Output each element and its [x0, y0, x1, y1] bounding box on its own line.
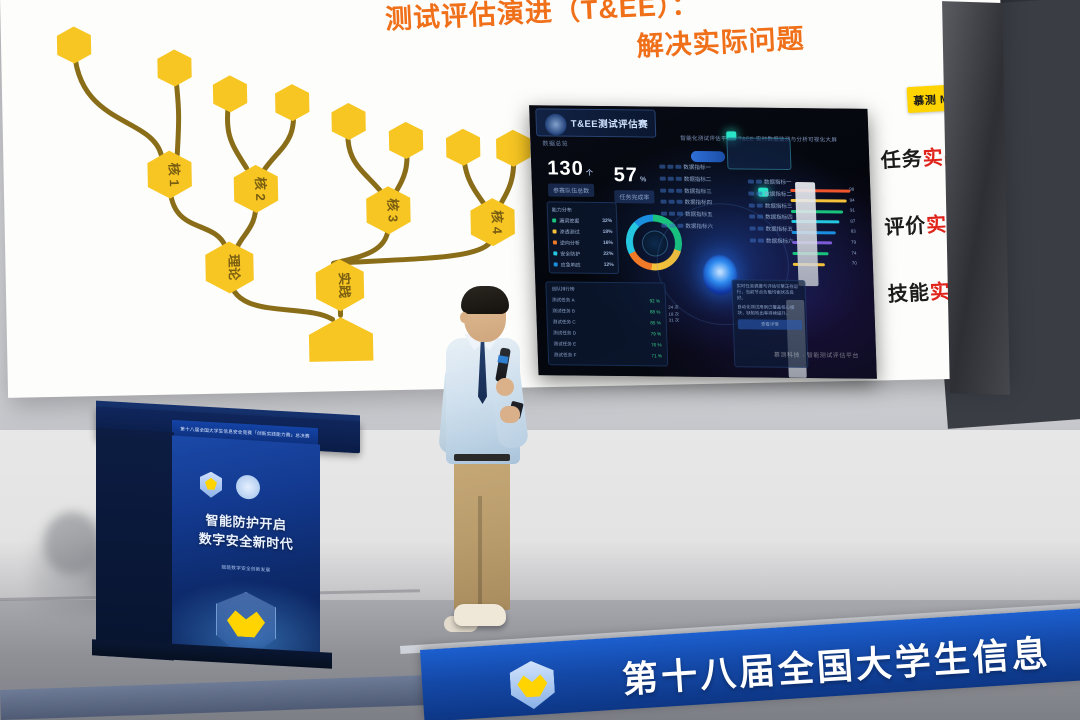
speaker-hand-clicker [500, 406, 520, 423]
side-panel-p1: 实时任务调度与评估引擎正在运行，当前节点负载均衡状态良好。 [736, 283, 801, 301]
speaker [438, 286, 548, 658]
microphone-band [497, 355, 508, 364]
hex-label-k1: 核 1 [166, 162, 181, 186]
podium-front-panel: 智能防护开启 数字安全新时代 赋能数字安全创新发展 [172, 435, 320, 662]
kpi-2-unit: % [640, 176, 646, 183]
legend-row-5: 应急响应12% [554, 261, 614, 269]
dashboard-header-sub: 数据总览 [542, 138, 568, 147]
screen-right-bezel [942, 1, 1010, 395]
hex-label-praxis: 实践 [337, 272, 353, 298]
dashboard-watermark: 慕测科技 · 智能测试评估平台 [774, 350, 859, 360]
side-panel-p2: 自动化测试用例已覆盖核心模块，缺陷检出率持续提升。 [737, 304, 801, 317]
legend-row-1: 漏洞挖掘32% [552, 217, 612, 225]
side-panel-button[interactable]: 查看详情 [738, 319, 802, 330]
kpi-1-value: 130 [547, 157, 584, 179]
university-seal-icon [236, 474, 260, 500]
speaker-leg-split [478, 496, 482, 608]
legend-row-3: 逆向分析16% [553, 239, 613, 247]
legend-row-2: 渗透测试18% [552, 228, 612, 236]
kpi-1-unit: 个 [586, 170, 593, 177]
shield-emblem-icon [200, 471, 222, 498]
podium-title-line2: 数字安全新时代 [199, 531, 294, 552]
kpi-2-value: 57 [613, 164, 638, 186]
dashboard-bottom-list: 24 次 18 次 31 次 [668, 305, 727, 325]
kpi-1: 130个 参赛队伍总数 [547, 157, 594, 196]
dashboard-screenshot: T&EE测试评估赛 数据总览 智能化测试评估平台 · T&EE 实时数据监测与分… [529, 105, 877, 378]
podium-logos [200, 471, 292, 503]
donut-legend: 能力分布 漏洞挖掘32% 渗透测试18% 逆向分析16% 安全防护22% 应急响… [546, 201, 619, 274]
speaker-hand-mic [496, 378, 514, 396]
dashboard-live-pill [691, 151, 725, 162]
dashboard-header-title: T&EE测试评估赛 [571, 116, 649, 131]
speaker-ear [460, 312, 468, 323]
podium-subtitle: 赋能数字安全创新发展 [186, 562, 306, 576]
speaker-hair [461, 286, 509, 314]
podium-title-line1: 智能防护开启 [205, 512, 286, 532]
legend-row-4: 安全防护22% [553, 250, 613, 258]
kpi-2-caption: 任务完成率 [614, 190, 655, 203]
hex-label-k3: 核 3 [385, 198, 400, 222]
hex-label-theory: 理论 [226, 254, 242, 281]
wall-shadow-head [44, 512, 100, 574]
speaker-shoe-front [454, 604, 506, 626]
presentation-photo: 测试评估演进（T&EE）： 解决实际问题 [0, 0, 1080, 720]
slogan-1-prefix: 任务 [880, 148, 923, 172]
dashboard-crest-icon [544, 113, 567, 135]
slogan-2-prefix: 评价 [884, 215, 927, 239]
dashboard-header: T&EE测试评估赛 [535, 108, 656, 137]
podium-title: 智能防护开启 数字安全新时代 [186, 510, 306, 555]
speaker-legs [454, 450, 510, 610]
floating-info-card [726, 137, 791, 170]
dashboard-table: 战队排行榜 测试任务 A92 % 测试任务 B88 % 测试任务 C85 % 测… [545, 281, 668, 366]
speaker-belt [454, 454, 510, 461]
hex-label-k4: 核 4 [489, 210, 504, 235]
dashboard-right-list: 数据指标一 数据指标二 数据指标三 数据指标四 数据指标五 数据指标六 [748, 180, 794, 251]
podium-side [96, 428, 174, 661]
venue-shield-logo-icon [509, 660, 556, 711]
screen-glare-1 [795, 182, 819, 286]
slogan-3-prefix: 技能 [887, 282, 930, 306]
kpi-2: 57% 任务完成率 [613, 164, 654, 203]
kpi-1-caption: 参赛队伍总数 [548, 183, 595, 196]
legend-title: 能力分布 [552, 206, 612, 214]
hex-label-k2: 核 2 [253, 177, 268, 201]
